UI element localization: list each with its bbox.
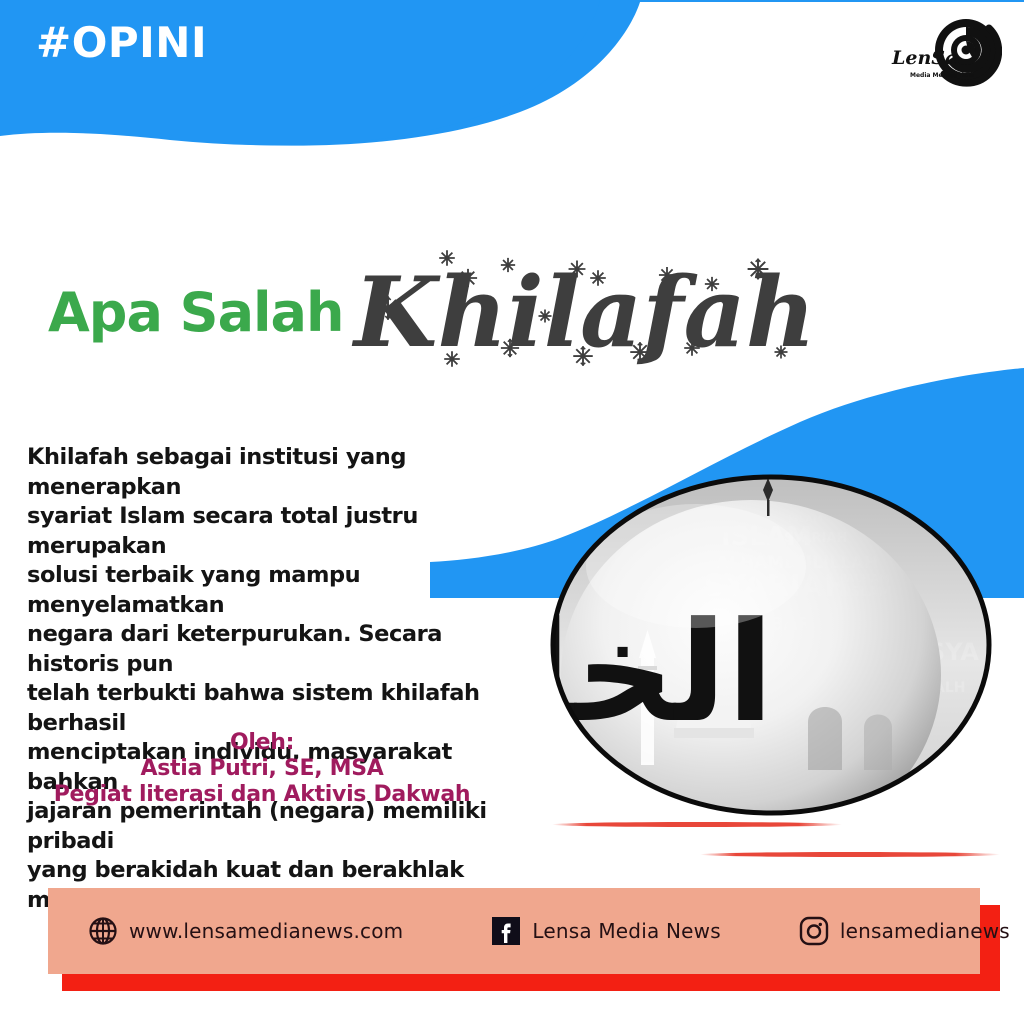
byline-role: Pegiat literasi dan Aktivis Dakwah xyxy=(27,782,497,808)
headline: Apa Salah xyxy=(48,272,808,382)
red-accent-line xyxy=(552,822,842,827)
headline-script-text: Khilafah? xyxy=(351,256,810,369)
globe-icon xyxy=(88,916,118,946)
footer-instagram[interactable]: lensamedianews xyxy=(799,916,1010,946)
logo-tagline: Media Menuju Ilahi xyxy=(910,72,974,79)
facebook-icon xyxy=(491,916,521,946)
footer-website-label: www.lensamedianews.com xyxy=(129,919,403,943)
headline-plain: Apa Salah xyxy=(48,286,343,340)
category-tag: #OPINI xyxy=(36,22,207,64)
footer-facebook[interactable]: Lensa Media News xyxy=(491,916,720,946)
poster-canvas: #OPINI LenSa Media Menuju Ilahi Apa Sala… xyxy=(0,0,1024,1024)
logo-wordmark: LenSa xyxy=(891,47,957,69)
footer-instagram-label: lensamedianews xyxy=(840,919,1010,943)
body-line: syariat Islam secara total justru merupa… xyxy=(27,502,525,561)
khilafah-photo: ISLAM SYARIAH ALHAMDULILLAH SYARIAH ALHA… xyxy=(546,470,996,820)
body-line: Khilafah sebagai institusi yang menerapk… xyxy=(27,443,525,502)
headline-script: Khilafah? xyxy=(340,234,810,384)
byline-author: Astia Putri, SE, MSA xyxy=(27,756,497,782)
byline: Oleh: Astia Putri, SE, MSA Pegiat litera… xyxy=(27,730,497,808)
red-accent-line xyxy=(700,852,1000,857)
footer-links: www.lensamedianews.com Lensa Media News … xyxy=(48,888,980,974)
footer-facebook-label: Lensa Media News xyxy=(532,919,720,943)
instagram-icon xyxy=(799,916,829,946)
footer-website[interactable]: www.lensamedianews.com xyxy=(88,916,403,946)
body-line: solusi terbaik yang mampu menyelamatkan xyxy=(27,561,525,620)
body-line: negara dari keterpurukan. Secara histori… xyxy=(27,620,525,679)
body-paragraph: Khilafah sebagai institusi yang menerapk… xyxy=(27,443,525,915)
brand-logo[interactable]: LenSa Media Menuju Ilahi xyxy=(884,16,1002,98)
byline-label: Oleh: xyxy=(27,730,497,756)
